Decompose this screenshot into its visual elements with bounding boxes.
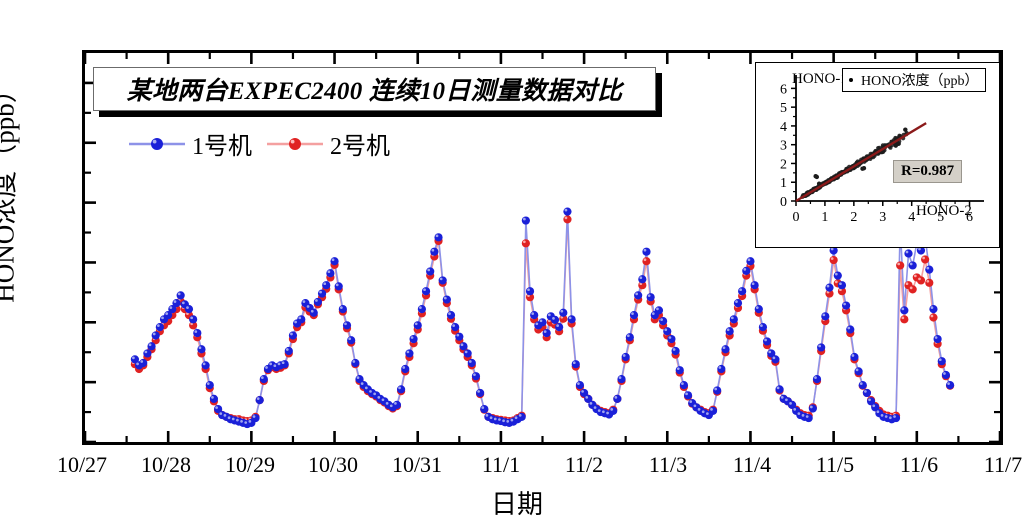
legend-label-series-1: 1号机: [192, 126, 252, 161]
legend-label-series-2: 2号机: [330, 126, 390, 161]
inset-x-axis-label: HONO-2: [916, 203, 972, 220]
svg-text:4: 4: [780, 120, 787, 135]
legend-swatch-blue: [128, 135, 186, 153]
inset-scatter-plot: 00112233445566 HONO-1 HONO-2 HONO浓度（ppb）…: [755, 62, 1000, 248]
svg-text:2: 2: [850, 210, 857, 225]
chart-title-box: 某地两台EXPEC2400 连续10日测量数据对比: [93, 67, 656, 111]
x-axis-label: 日期: [0, 484, 1034, 518]
svg-text:3: 3: [879, 210, 886, 225]
svg-text:2: 2: [780, 157, 787, 172]
chart-root: HONO浓度（ppb） 6 5 4 3 2 1 0 10/27 10/28 10…: [0, 0, 1034, 518]
correlation-annotation: R=0.987: [893, 160, 962, 183]
svg-text:0: 0: [780, 195, 787, 210]
legend-entry-series-1: 1号机: [128, 126, 252, 161]
chart-legend: 1号机 2号机: [128, 126, 390, 161]
svg-text:3: 3: [780, 139, 787, 154]
svg-text:1: 1: [780, 176, 787, 191]
chart-title: 某地两台EXPEC2400 连续10日测量数据对比: [127, 71, 623, 107]
inset-legend: HONO浓度（ppb）: [842, 68, 986, 92]
svg-text:1: 1: [821, 210, 828, 225]
svg-text:5: 5: [780, 101, 787, 116]
svg-text:4: 4: [908, 210, 915, 225]
inset-y-axis-label: HONO-1: [792, 71, 848, 88]
y-axis-label: HONO浓度（ppb）: [0, 0, 22, 400]
legend-swatch-red: [266, 135, 324, 153]
svg-text:0: 0: [793, 210, 800, 225]
scatter-dot-icon: [849, 78, 853, 82]
inset-legend-label: HONO浓度（ppb）: [861, 70, 978, 90]
svg-text:6: 6: [780, 82, 787, 97]
legend-entry-series-2: 2号机: [266, 126, 390, 161]
x-tick-label-11: 11/7: [943, 452, 1034, 478]
